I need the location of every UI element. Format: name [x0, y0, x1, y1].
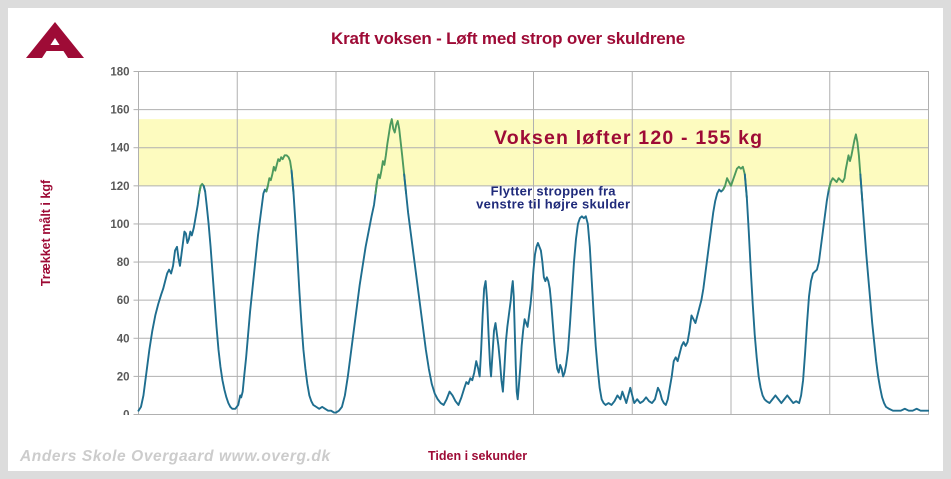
y-tick-label: 80 — [117, 257, 130, 269]
y-tick-label: 100 — [110, 219, 129, 231]
y-tick-label: 40 — [117, 333, 130, 345]
series-line — [139, 186, 201, 411]
y-tick-labels: 020406080100120140160180 — [110, 67, 138, 416]
y-tick-label: 180 — [110, 67, 129, 79]
series-line — [204, 186, 268, 409]
page-title: Kraft voksen - Løft med strop over skuld… — [128, 29, 888, 49]
y-axis-title: Trækket målt i kgf — [39, 133, 53, 333]
series-line — [745, 174, 831, 403]
y-tick-label: 0 — [123, 410, 129, 416]
chart-plot-area: 020406080100120140160180 010203040506070… — [88, 63, 929, 415]
logo-a-icon — [24, 20, 86, 60]
strap-note-line2: venstre til højre skulder — [476, 197, 630, 212]
y-tick-label: 140 — [110, 143, 129, 155]
y-tick-label: 60 — [117, 295, 130, 307]
y-tick-label: 160 — [110, 105, 129, 117]
watermark-credit: Anders Skole Overgaard www.overg.dk — [20, 448, 331, 466]
y-tick-label: 120 — [110, 181, 129, 193]
series-line — [860, 174, 928, 410]
band-label: Voksen løfter 120 - 155 kg — [494, 127, 763, 149]
x-axis-title: Tiden i sekunder — [428, 449, 527, 463]
chart-frame: Kraft voksen - Løft med strop over skuld… — [8, 8, 943, 471]
y-tick-label: 20 — [117, 371, 130, 383]
